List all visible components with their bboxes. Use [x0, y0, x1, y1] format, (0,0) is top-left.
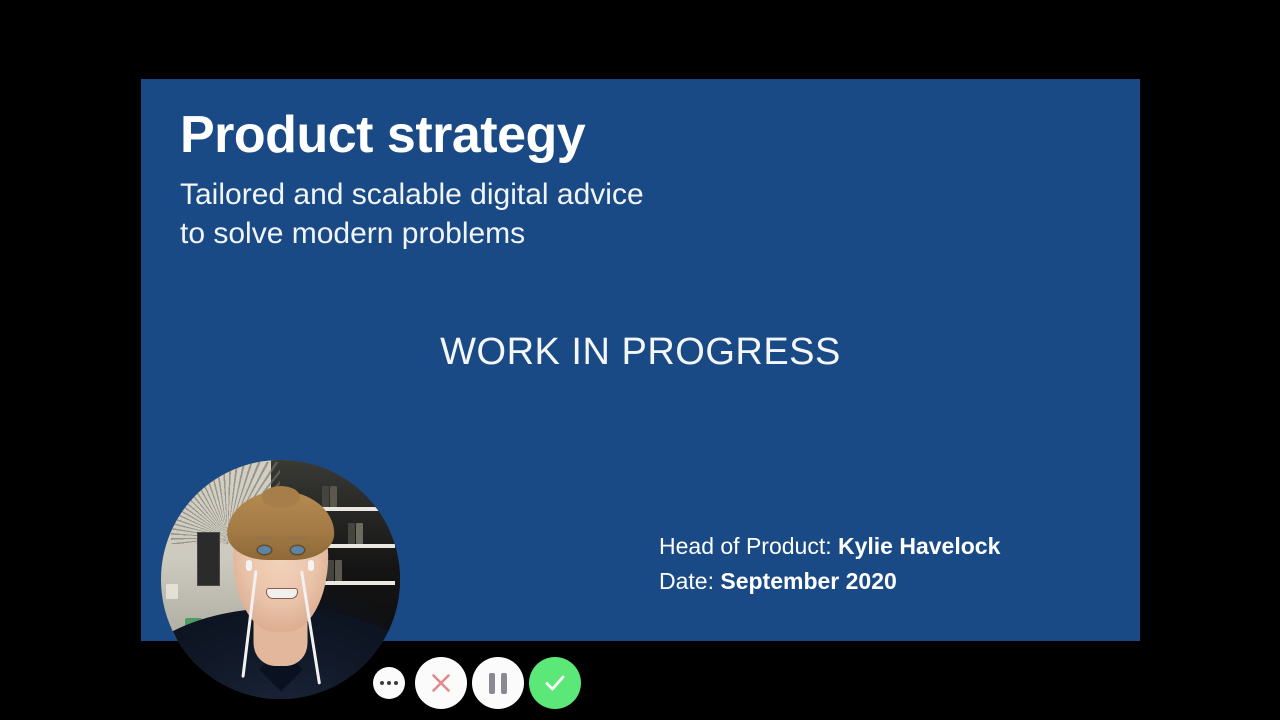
credit-role-label: Head of Product: — [659, 533, 832, 559]
presenter-eyebrow-right — [289, 536, 306, 539]
presenter-eyebrow-left — [255, 536, 272, 539]
credit-date-label: Date: — [659, 568, 714, 594]
finish-recording-button[interactable] — [529, 657, 581, 709]
credit-date-row: Date: September 2020 — [659, 564, 1000, 599]
credit-date-value: September 2020 — [720, 568, 896, 594]
slide-subtitle: Tailored and scalable digital advice to … — [180, 175, 644, 253]
pause-recording-button[interactable] — [472, 657, 524, 709]
earbud-left-icon — [246, 560, 252, 571]
presenter-hair-bun — [261, 486, 299, 508]
ellipsis-icon — [380, 681, 398, 685]
presenter-mouth — [266, 588, 298, 600]
more-options-button[interactable] — [373, 667, 405, 699]
screen-recording-stage: Product strategy Tailored and scalable d… — [0, 0, 1280, 720]
earbud-right-icon — [308, 560, 314, 571]
slide-status-text: WORK IN PROGRESS — [141, 331, 1140, 374]
close-icon — [430, 672, 452, 694]
check-icon — [542, 670, 568, 696]
pause-icon — [489, 673, 507, 694]
credit-role-row: Head of Product: Kylie Havelock — [659, 529, 1000, 564]
credit-role-value: Kylie Havelock — [838, 533, 1000, 559]
wall-picture-frame — [197, 532, 221, 587]
slide-credits: Head of Product: Kylie Havelock Date: Se… — [659, 529, 1000, 598]
cancel-recording-button[interactable] — [415, 657, 467, 709]
wall-socket — [166, 584, 178, 598]
recording-controls-bar — [365, 650, 595, 716]
slide-title: Product strategy — [180, 107, 585, 163]
